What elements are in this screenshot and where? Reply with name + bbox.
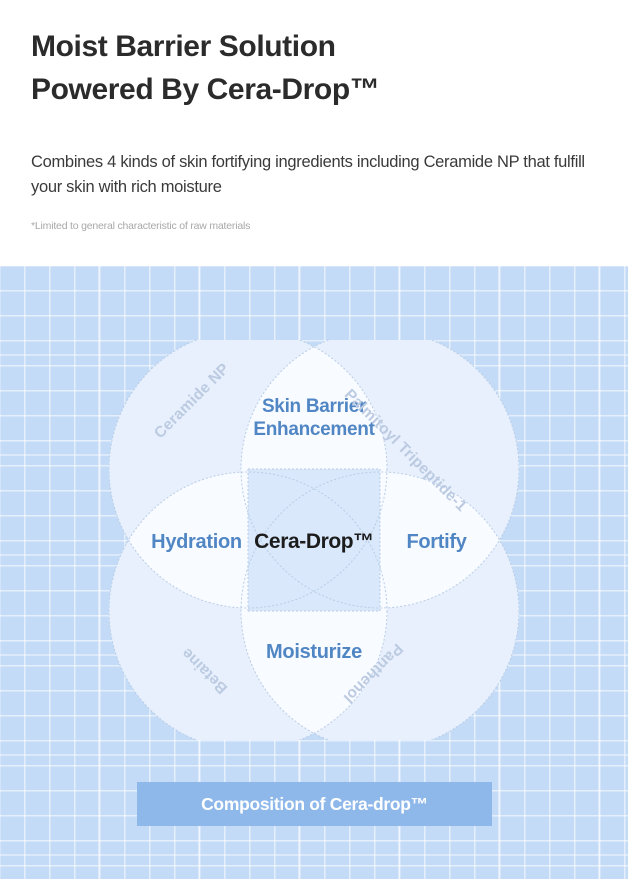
header-section: Moist Barrier Solution Powered By Cera-D… (0, 0, 628, 266)
product-detail-page: Moist Barrier Solution Powered By Cera-D… (0, 0, 628, 879)
composition-banner: Composition of Cera-drop™ (137, 782, 492, 826)
venn-center-label: Cera-Drop™ (224, 530, 404, 554)
page-footnote: *Limited to general characteristic of ra… (31, 220, 250, 232)
venn-diagram: Skin Barrier Enhancement Hydration Forti… (109, 340, 519, 740)
page-title: Moist Barrier Solution Powered By Cera-D… (31, 26, 379, 111)
composition-banner-label: Composition of Cera-drop™ (201, 794, 428, 815)
page-subtitle: Combines 4 kinds of skin fortifying ingr… (31, 150, 597, 200)
diagram-panel: Skin Barrier Enhancement Hydration Forti… (0, 266, 628, 879)
